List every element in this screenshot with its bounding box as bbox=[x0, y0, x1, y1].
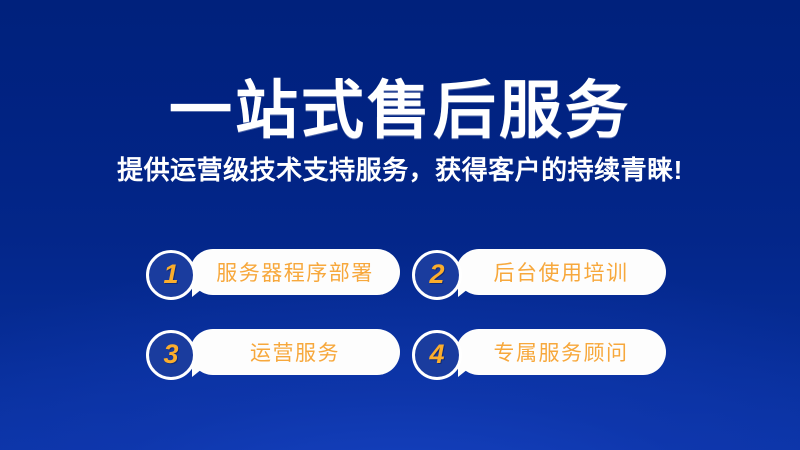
page-title: 一站式售后服务 bbox=[0, 78, 800, 144]
page-subtitle: 提供运营级技术支持服务，获得客户的持续青睐! bbox=[0, 155, 800, 186]
service-label: 运营服务 bbox=[250, 337, 340, 367]
promo-banner: 一站式售后服务 提供运营级技术支持服务，获得客户的持续青睐! 1 服务器程序部署… bbox=[0, 0, 800, 450]
service-label: 服务器程序部署 bbox=[216, 257, 374, 287]
step-badge-4: 4 bbox=[412, 330, 462, 380]
speech-bubble-4[interactable]: 专属服务顾问 bbox=[456, 329, 666, 375]
service-label: 后台使用培训 bbox=[494, 257, 629, 287]
service-card-4[interactable]: 4 专属服务顾问 bbox=[412, 326, 666, 384]
header-block: 一站式售后服务 提供运营级技术支持服务，获得客户的持续青睐! bbox=[0, 78, 800, 186]
step-number: 1 bbox=[163, 261, 178, 288]
step-badge-1: 1 bbox=[146, 250, 196, 300]
service-card-grid: 1 服务器程序部署 2 后台使用培训 3 bbox=[146, 246, 666, 384]
step-number: 2 bbox=[429, 261, 444, 288]
step-badge-2: 2 bbox=[412, 250, 462, 300]
speech-bubble-1[interactable]: 服务器程序部署 bbox=[190, 249, 400, 295]
speech-bubble-3[interactable]: 运营服务 bbox=[190, 329, 400, 375]
service-card-2[interactable]: 2 后台使用培训 bbox=[412, 246, 666, 304]
service-card-1[interactable]: 1 服务器程序部署 bbox=[146, 246, 400, 304]
speech-bubble-wrap-1: 服务器程序部署 bbox=[190, 249, 400, 301]
speech-bubble-2[interactable]: 后台使用培训 bbox=[456, 249, 666, 295]
service-card-3[interactable]: 3 运营服务 bbox=[146, 326, 400, 384]
step-number: 4 bbox=[429, 341, 444, 368]
step-number: 3 bbox=[163, 341, 178, 368]
step-badge-3: 3 bbox=[146, 330, 196, 380]
speech-bubble-wrap-4: 专属服务顾问 bbox=[456, 329, 666, 381]
speech-bubble-wrap-2: 后台使用培训 bbox=[456, 249, 666, 301]
service-label: 专属服务顾问 bbox=[494, 337, 629, 367]
speech-bubble-wrap-3: 运营服务 bbox=[190, 329, 400, 381]
